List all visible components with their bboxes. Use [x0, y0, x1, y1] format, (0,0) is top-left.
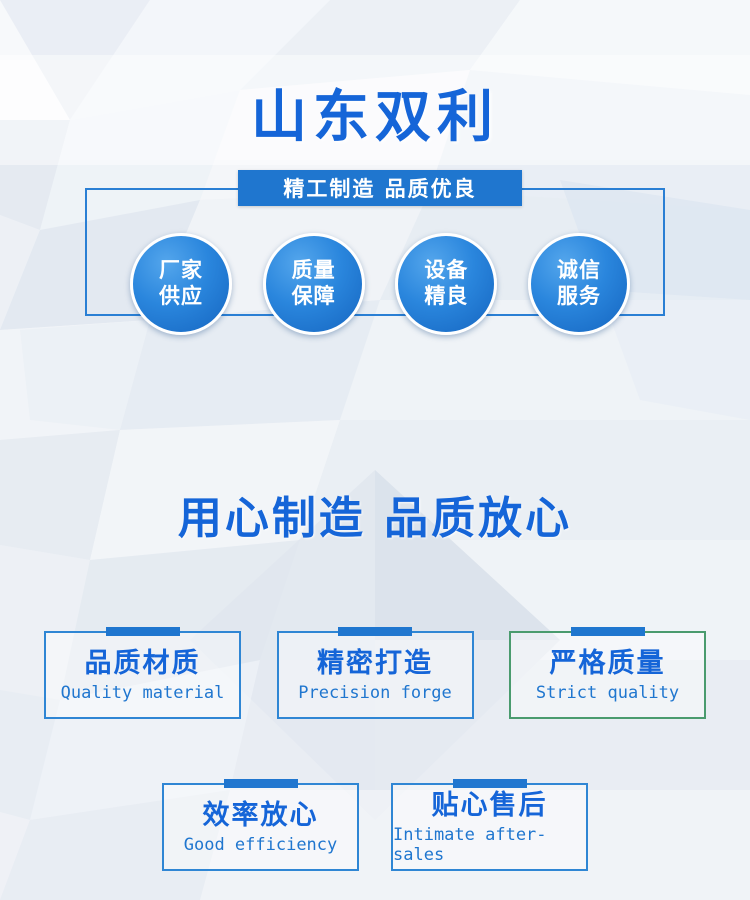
feature-box-quality-material: 品质材质 Quality material [44, 631, 241, 719]
feature-box-strict-quality-en: Strict quality [536, 683, 679, 703]
feature-circle-quality-line2: 保障 [292, 284, 336, 310]
feature-box-intimate-after-sales: 贴心售后 Intimate after-sales [391, 783, 588, 871]
feature-box-cap [453, 779, 527, 788]
feature-box-quality-material-en: Quality material [61, 683, 225, 703]
feature-box-intimate-after-sales-cn: 贴心售后 [432, 791, 548, 821]
feature-box-intimate-after-sales-en: Intimate after-sales [393, 825, 586, 865]
feature-box-strict-quality-cn: 严格质量 [550, 649, 666, 679]
top-section: 山东双利 精工制造 品质优良 厂家 供应 质量 保障 设备 精良 诚信 服务 [0, 0, 750, 430]
feature-box-row-1: 品质材质 Quality material 精密打造 Precision for… [44, 631, 706, 719]
feature-box-precision-forge-en: Precision forge [298, 683, 452, 703]
feature-box-cap [224, 779, 298, 788]
feature-box-cap [571, 627, 645, 636]
feature-box-good-efficiency: 效率放心 Good efficiency [162, 783, 359, 871]
promo-page: 山东双利 精工制造 品质优良 厂家 供应 质量 保障 设备 精良 诚信 服务 [0, 0, 750, 900]
feature-box-cap [338, 627, 412, 636]
feature-box-precision-forge: 精密打造 Precision forge [277, 631, 474, 719]
feature-circle-manufacturer: 厂家 供应 [130, 233, 232, 335]
feature-circle-service: 诚信 服务 [528, 233, 630, 335]
slogan-banner: 精工制造 品质优良 [238, 170, 522, 206]
feature-circle-row: 厂家 供应 质量 保障 设备 精良 诚信 服务 [130, 233, 630, 335]
bracket-top-right-segment [520, 188, 665, 190]
feature-circle-quality: 质量 保障 [263, 233, 365, 335]
feature-circle-equipment: 设备 精良 [395, 233, 497, 335]
feature-circle-equipment-line2: 精良 [424, 284, 468, 310]
feature-box-strict-quality: 严格质量 Strict quality [509, 631, 706, 719]
feature-box-quality-material-cn: 品质材质 [85, 649, 201, 679]
feature-box-row-2: 效率放心 Good efficiency 贴心售后 Intimate after… [162, 783, 588, 871]
feature-circle-service-line1: 诚信 [557, 258, 601, 284]
feature-box-cap [106, 627, 180, 636]
feature-circle-service-line2: 服务 [557, 284, 601, 310]
feature-circle-manufacturer-line2: 供应 [159, 284, 203, 310]
feature-box-good-efficiency-en: Good efficiency [184, 835, 338, 855]
feature-box-precision-forge-cn: 精密打造 [317, 649, 433, 679]
feature-circle-quality-line1: 质量 [292, 258, 336, 284]
page-title: 山东双利 [0, 72, 750, 153]
bracket-top-left-segment [85, 188, 240, 190]
feature-box-good-efficiency-cn: 效率放心 [203, 801, 319, 831]
feature-circle-manufacturer-line1: 厂家 [159, 258, 203, 284]
section-subtitle: 用心制造 品质放心 [0, 482, 750, 546]
feature-circle-equipment-line1: 设备 [424, 258, 468, 284]
